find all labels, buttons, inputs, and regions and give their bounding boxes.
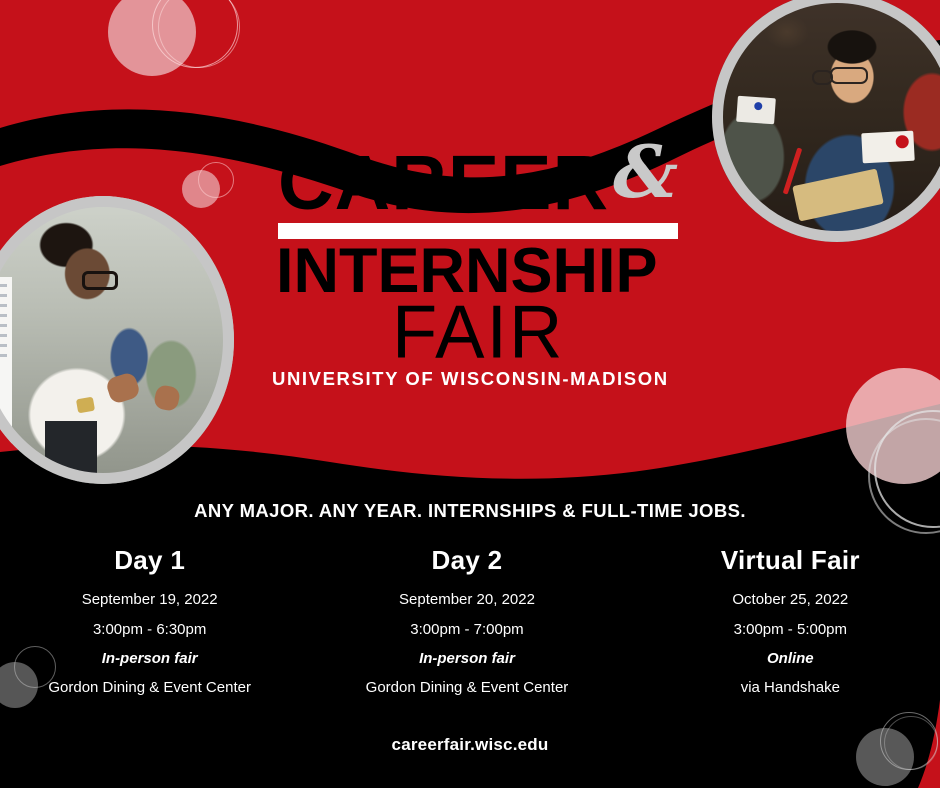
- event-time: 3:00pm - 5:00pm: [641, 621, 940, 638]
- career-fair-poster: CAREER & INTERNSHIP FAIR UNIVERSITY OF W…: [0, 0, 940, 788]
- event-time: 3:00pm - 6:30pm: [0, 621, 299, 638]
- event-columns: Day 1 September 19, 2022 3:00pm - 6:30pm…: [0, 545, 940, 696]
- event-location: via Handshake: [641, 679, 940, 696]
- event-mode: In-person fair: [317, 650, 616, 667]
- event-date: September 20, 2022: [317, 591, 616, 608]
- event-column-virtual-fair: Virtual Fair October 25, 2022 3:00pm - 5…: [623, 545, 940, 696]
- event-column-day-1: Day 1 September 19, 2022 3:00pm - 6:30pm…: [0, 545, 317, 696]
- event-time: 3:00pm - 7:00pm: [317, 621, 616, 638]
- website-url[interactable]: careerfair.wisc.edu: [0, 735, 940, 755]
- event-title: Day 1: [0, 545, 299, 576]
- event-title: Day 2: [317, 545, 616, 576]
- event-mode: Online: [641, 650, 940, 667]
- event-title: Virtual Fair: [641, 545, 940, 576]
- event-location: Gordon Dining & Event Center: [317, 679, 616, 696]
- tagline-text: ANY MAJOR. ANY YEAR. INTERNSHIPS & FULL-…: [0, 500, 940, 522]
- event-mode: In-person fair: [0, 650, 299, 667]
- event-date: October 25, 2022: [641, 591, 940, 608]
- event-column-day-2: Day 2 September 20, 2022 3:00pm - 7:00pm…: [317, 545, 622, 696]
- decorative-ring-small: [198, 162, 234, 198]
- event-location: Gordon Dining & Event Center: [0, 679, 299, 696]
- event-date: September 19, 2022: [0, 591, 299, 608]
